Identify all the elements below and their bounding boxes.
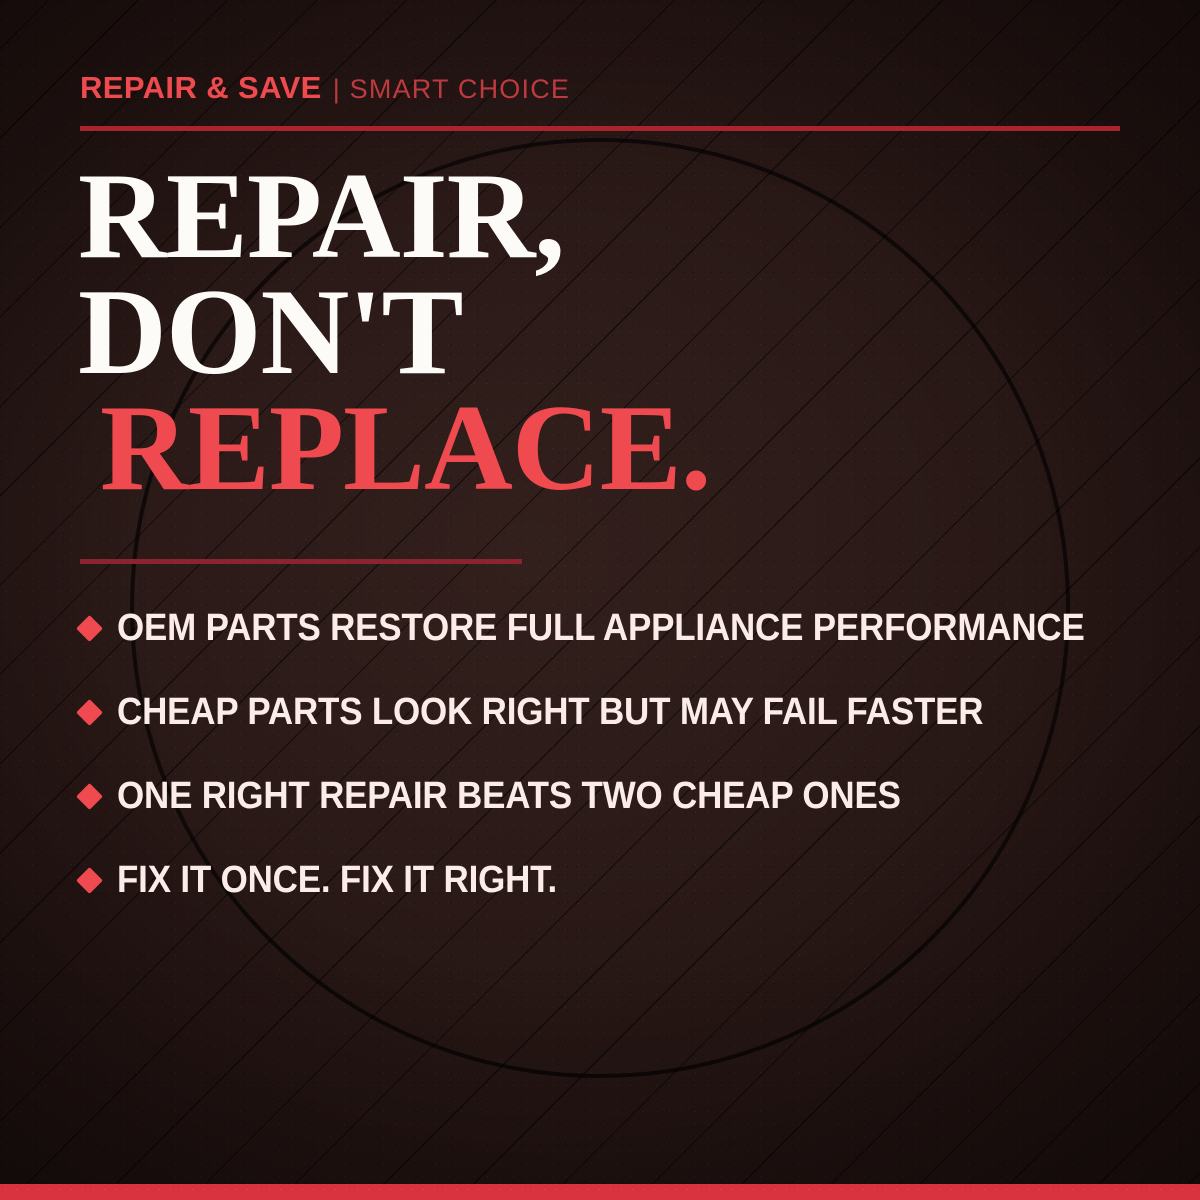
headline-line-1: REPAIR, [78, 158, 710, 274]
diamond-bullet-icon [76, 867, 103, 894]
headline-line-3: REPLACE. [100, 390, 710, 506]
list-item-label: OEM PARTS RESTORE FULL APPLIANCE PERFORM… [117, 609, 1085, 647]
eyebrow-header: REPAIR & SAVE | SMART CHOICE [80, 70, 570, 106]
headline-line-2: DON'T [78, 274, 710, 390]
list-item: CHEAP PARTS LOOK RIGHT BUT MAY FAIL FAST… [80, 670, 1150, 754]
diamond-bullet-icon [76, 699, 103, 726]
list-item-label: FIX IT ONCE. FIX IT RIGHT. [117, 861, 557, 899]
list-item: ONE RIGHT REPAIR BEATS TWO CHEAP ONES [80, 754, 1150, 838]
eyebrow-light-text: | SMART CHOICE [333, 74, 570, 105]
header-divider-rule [80, 126, 1120, 131]
benefits-list: OEM PARTS RESTORE FULL APPLIANCE PERFORM… [80, 586, 1150, 922]
list-item: FIX IT ONCE. FIX IT RIGHT. [80, 838, 1150, 922]
headline-bullets-divider [80, 559, 522, 564]
diamond-bullet-icon [76, 783, 103, 810]
page-title: REPAIR, DON'T REPLACE. [78, 158, 710, 507]
footer-accent-bar [0, 1184, 1200, 1200]
list-item: OEM PARTS RESTORE FULL APPLIANCE PERFORM… [80, 586, 1150, 670]
promo-poster: REPAIR & SAVE | SMART CHOICE REPAIR, DON… [0, 0, 1200, 1200]
list-item-label: ONE RIGHT REPAIR BEATS TWO CHEAP ONES [117, 777, 901, 815]
diamond-bullet-icon [76, 615, 103, 642]
footer-bar-texture [0, 1184, 1200, 1200]
list-item-label: CHEAP PARTS LOOK RIGHT BUT MAY FAIL FAST… [117, 693, 983, 731]
eyebrow-strong-text: REPAIR & SAVE [80, 70, 322, 106]
